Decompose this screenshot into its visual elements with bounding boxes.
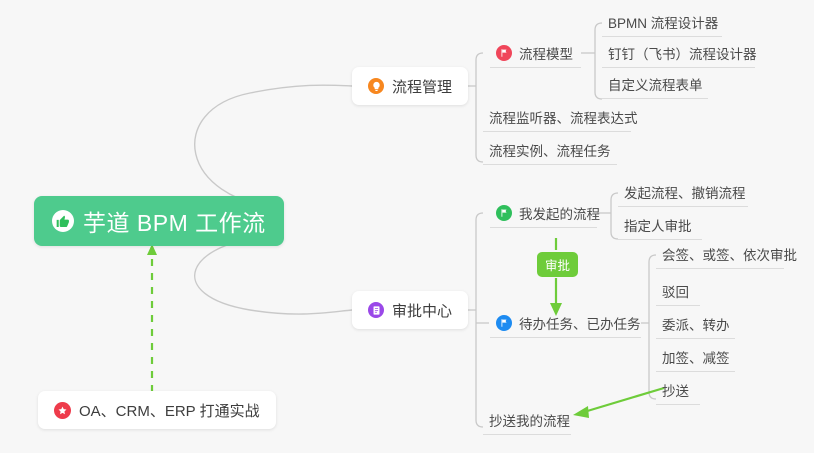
root-node[interactable]: 芋道 BPM 工作流 [34,196,284,246]
leaf-label: 指定人审批 [624,215,692,235]
leaf-label: 抄送 [662,380,689,400]
leaf-label: 会签、或签、依次审批 [662,244,797,264]
leaf-label: 流程实例、流程任务 [489,140,611,160]
leaf-node-process-model[interactable]: 流程模型 [490,39,581,68]
flag-icon [496,45,512,61]
mindmap-canvas: 芋道 BPM 工作流 OA、CRM、ERP 打通实战 流程管理 流程模型 BPM… [0,0,814,453]
leaf-label: 我发起的流程 [519,203,600,223]
clipboard-icon [368,302,384,318]
branch-label: 流程管理 [392,76,452,97]
root-label: 芋道 BPM 工作流 [83,204,266,238]
star-icon [54,402,71,419]
leaf-label: 加签、减签 [662,347,730,367]
leaf-node-reject[interactable]: 驳回 [656,277,700,306]
leaf-label: 驳回 [662,281,689,301]
leaf-node-custom-form[interactable]: 自定义流程表单 [602,70,708,99]
leaf-label: 流程监听器、流程表达式 [489,107,638,127]
leaf-node-instance-task[interactable]: 流程实例、流程任务 [483,136,617,165]
leaf-node-cc-to-me[interactable]: 抄送我的流程 [483,406,571,435]
leaf-node-countersign[interactable]: 会签、或签、依次审批 [656,240,784,269]
leaf-node-delegate-transfer[interactable]: 委派、转办 [656,310,735,339]
leaf-node-my-initiated-process[interactable]: 我发起的流程 [490,199,597,228]
leaf-label: 流程模型 [519,43,573,63]
leaf-label: 委派、转办 [662,314,730,334]
leaf-node-listener-expression[interactable]: 流程监听器、流程表达式 [483,103,631,132]
leaf-node-todo-done-tasks[interactable]: 待办任务、已办任务 [490,309,641,338]
bottom-note-label: OA、CRM、ERP 打通实战 [79,400,260,421]
branch-node-approval-center[interactable]: 审批中心 [352,291,468,329]
leaf-node-cc[interactable]: 抄送 [656,376,700,405]
approve-tag: 审批 [537,252,578,277]
leaf-node-dingtalk-designer[interactable]: 钉钉（飞书）流程设计器 [602,39,755,68]
branch-node-process-management[interactable]: 流程管理 [352,67,468,105]
leaf-label: 抄送我的流程 [489,410,570,430]
bottom-note-node[interactable]: OA、CRM、ERP 打通实战 [38,391,276,429]
leaf-node-initiate-cancel[interactable]: 发起流程、撤销流程 [618,178,748,207]
leaf-label: 自定义流程表单 [608,74,703,94]
branch-label: 审批中心 [392,300,452,321]
thumbs-up-icon [52,210,74,232]
leaf-label: 发起流程、撤销流程 [624,182,746,202]
lightbulb-icon [368,78,384,94]
leaf-label: 待办任务、已办任务 [519,313,641,333]
approve-tag-label: 审批 [545,255,570,274]
leaf-label: BPMN 流程设计器 [608,12,718,32]
leaf-node-bpmn-designer[interactable]: BPMN 流程设计器 [602,8,722,37]
leaf-node-add-remove-sign[interactable]: 加签、减签 [656,343,735,372]
leaf-label: 钉钉（飞书）流程设计器 [608,43,757,63]
leaf-node-assignee-approval[interactable]: 指定人审批 [618,211,702,240]
flag-icon [496,315,512,331]
flag-icon [496,205,512,221]
